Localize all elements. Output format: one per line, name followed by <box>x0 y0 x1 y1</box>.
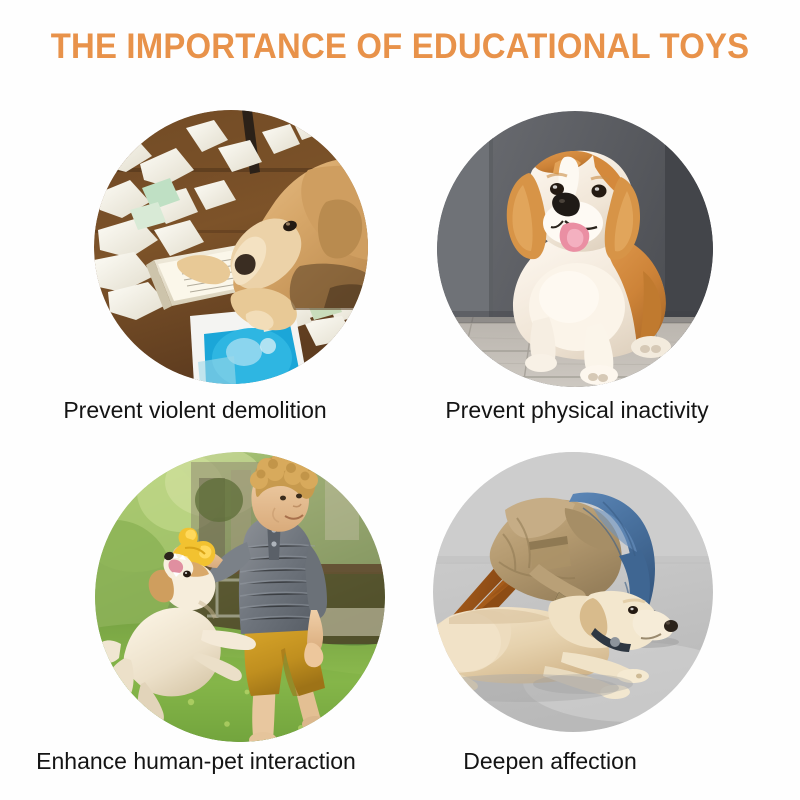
overweight-beagle-photo <box>437 111 713 387</box>
benefits-grid: Prevent violent demolition <box>0 96 800 796</box>
benefit-card-enhance-human-pet-interaction: Enhance human-pet interaction <box>0 442 400 792</box>
benefit-card-deepen-affection: Deepen affection <box>400 442 800 792</box>
person-petting-dog-photo <box>433 452 713 732</box>
benefit-caption: Prevent violent demolition <box>0 396 395 424</box>
dog-shredding-paper-photo <box>94 110 368 384</box>
page-title: THE IMPORTANCE OF EDUCATIONAL TOYS <box>24 26 776 68</box>
benefit-card-prevent-physical-inactivity: Prevent physical inactivity <box>400 96 800 446</box>
benefit-caption: Deepen affection <box>350 747 750 775</box>
boy-playing-with-dog-photo <box>95 452 385 742</box>
benefit-caption: Enhance human-pet interaction <box>0 747 396 775</box>
benefit-card-prevent-violent-demolition: Prevent violent demolition <box>0 96 400 446</box>
benefit-caption: Prevent physical inactivity <box>377 396 777 424</box>
infographic-poster: THE IMPORTANCE OF EDUCATIONAL TOYS <box>0 0 800 800</box>
